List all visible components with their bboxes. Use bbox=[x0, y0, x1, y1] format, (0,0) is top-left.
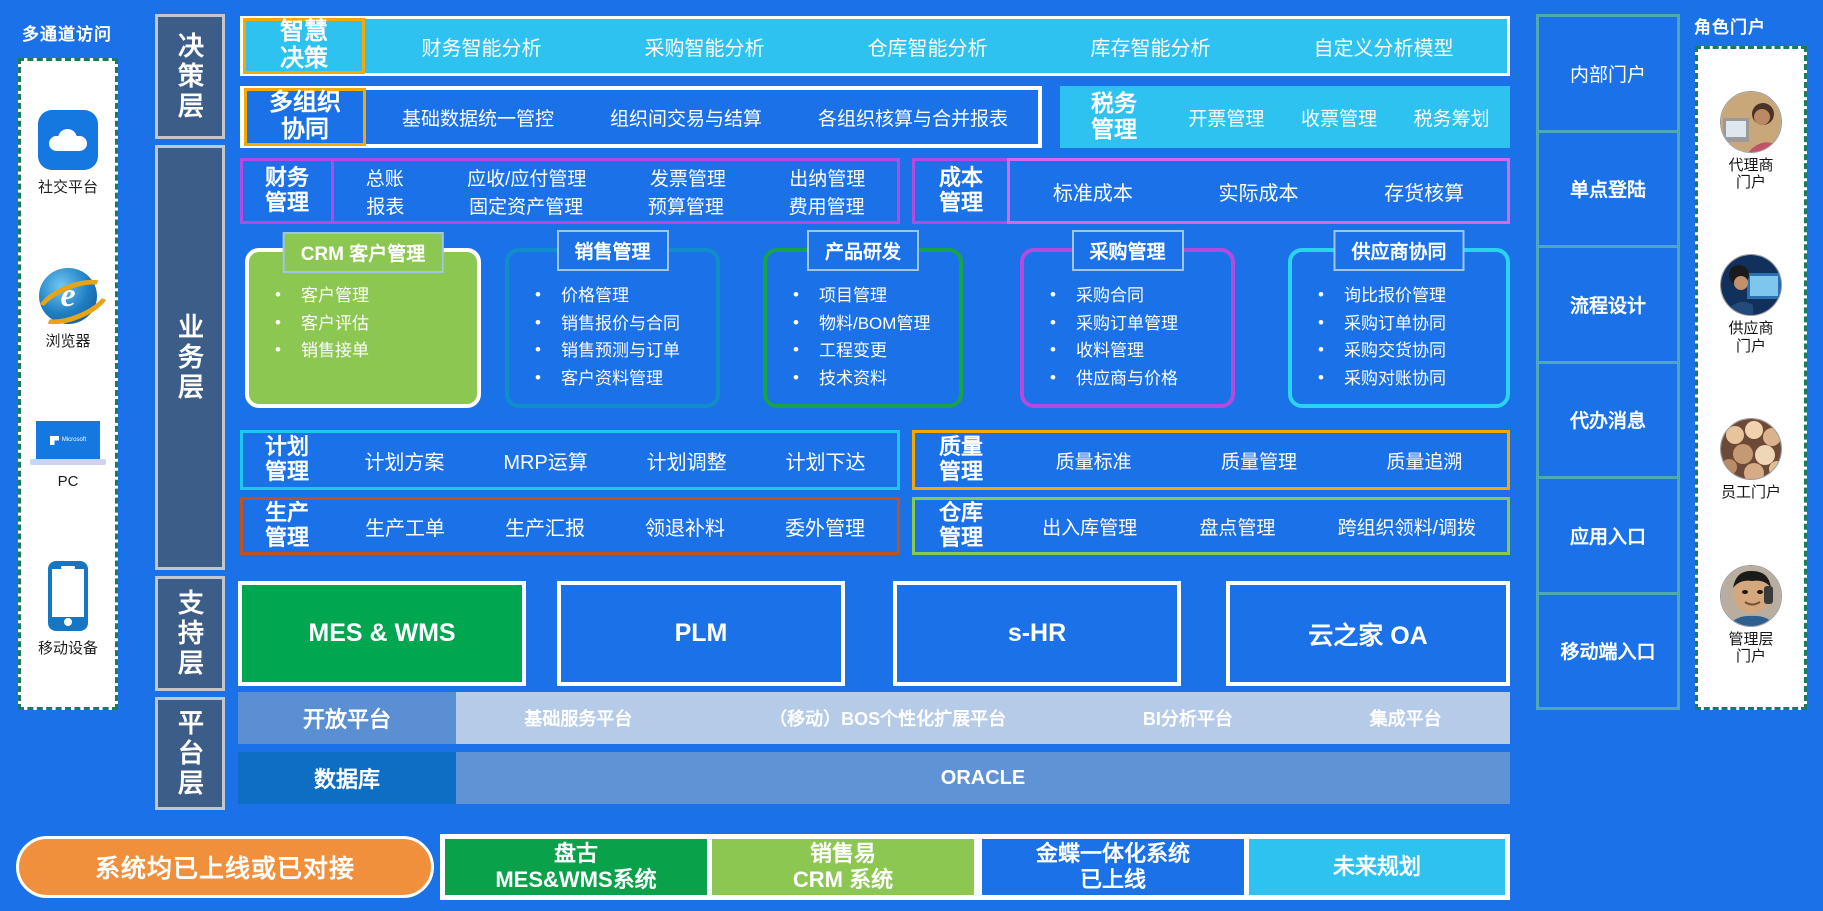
item[interactable]: 生产工单 bbox=[365, 512, 445, 541]
item[interactable]: 仓库智能分析 bbox=[868, 32, 988, 61]
production-module: 生产 管理 生产工单 生产汇报 领退补料 委外管理 bbox=[240, 497, 900, 555]
list-item[interactable]: 供应商与价格 bbox=[1050, 365, 1231, 393]
channel-label: 社交平台 bbox=[38, 176, 98, 197]
tag-line-1: 生产 bbox=[265, 501, 309, 526]
channel-item-pc[interactable]: Microsoft PC bbox=[30, 421, 106, 490]
architecture-diagram: 多通道访问 角色门户 社交平台 e 浏览器 Microsoft PC 移动设备 … bbox=[0, 0, 1823, 911]
item[interactable]: 质量标准 bbox=[1056, 447, 1132, 474]
support-oa[interactable]: 云之家 OA bbox=[1226, 581, 1510, 686]
tag-line-2: 管理 bbox=[265, 191, 309, 216]
tag-line-1: 质量 bbox=[939, 435, 983, 460]
item[interactable]: 委外管理 bbox=[785, 512, 865, 541]
item[interactable]: 自定义分析模型 bbox=[1314, 32, 1454, 61]
layer-platform: 平台层 bbox=[155, 697, 225, 810]
multiorg-items: 基础数据统一管控 组织间交易与结算 各组织核算与合并报表 bbox=[374, 90, 1036, 144]
card-items: 价格管理 销售报价与合同 销售预测与订单 客户资料管理 bbox=[535, 282, 716, 392]
item[interactable]: 组织间交易与结算 bbox=[610, 104, 762, 131]
multiorg-row: 多组织 协同 基础数据统一管控 组织间交易与结算 各组织核算与合并报表 bbox=[240, 86, 1042, 148]
item[interactable]: 实际成本 bbox=[1218, 177, 1298, 206]
role-portal-panel: 代理商 门户 供应商 门户 bbox=[1695, 46, 1807, 710]
list-item[interactable]: 价格管理 bbox=[535, 282, 716, 310]
card-supplier: 供应商协同 询比报价管理 采购订单协同 采购交货协同 采购对账协同 bbox=[1288, 248, 1510, 408]
cloud-icon bbox=[38, 110, 98, 170]
item[interactable]: 税务筹划 bbox=[1414, 104, 1490, 131]
card-rnd: 产品研发 项目管理 物料/BOM管理 工程变更 技术资料 bbox=[763, 248, 963, 408]
quality-module: 质量 管理 质量标准 质量管理 质量追溯 bbox=[912, 430, 1510, 490]
list-item[interactable]: 客户管理 bbox=[275, 282, 477, 310]
legend-line-1: 销售易 bbox=[810, 841, 876, 867]
list-item[interactable]: 采购交货协同 bbox=[1318, 337, 1506, 365]
legend-line-2: CRM 系统 bbox=[793, 867, 893, 893]
list-item[interactable]: 销售报价与合同 bbox=[535, 310, 716, 338]
card-title: 产品研发 bbox=[807, 230, 919, 271]
item[interactable]: 预算管理 bbox=[648, 192, 724, 219]
item[interactable]: 固定资产管理 bbox=[469, 192, 583, 219]
platform-open-row: 开放平台 基础服务平台 （移动）BOS个性化扩展平台 BI分析平台 集成平台 bbox=[238, 692, 1510, 744]
list-item[interactable]: 询比报价管理 bbox=[1318, 282, 1506, 310]
card-sales: 销售管理 价格管理 销售报价与合同 销售预测与订单 客户资料管理 bbox=[505, 248, 720, 408]
tag-line-2: 决策 bbox=[280, 46, 328, 73]
role-label-line2: 门户 bbox=[1728, 338, 1773, 355]
agent-avatar bbox=[1720, 91, 1782, 153]
tag-line-1: 成本 bbox=[939, 166, 983, 191]
item[interactable]: ORACLE bbox=[941, 767, 1025, 790]
list-item[interactable]: 物料/BOM管理 bbox=[793, 310, 959, 338]
plan-module: 计划 管理 计划方案 MRP运算 计划调整 计划下达 bbox=[240, 430, 900, 490]
role-label: 供应商 门户 bbox=[1728, 320, 1773, 355]
item[interactable]: 生产汇报 bbox=[505, 512, 585, 541]
item[interactable]: 基础数据统一管控 bbox=[402, 104, 554, 131]
tax-row: 税务 管理 开票管理 收票管理 税务筹划 bbox=[1060, 86, 1510, 148]
finance-module: 财务 管理 总账 应收/应付管理 发票管理 出纳管理 报表 固定资产管理 预算管… bbox=[240, 158, 900, 224]
role-label-line2: 门户 bbox=[1728, 174, 1773, 191]
item[interactable]: 采购智能分析 bbox=[645, 32, 765, 61]
channel-item-browser[interactable]: e 浏览器 bbox=[39, 268, 97, 351]
item[interactable]: 财务智能分析 bbox=[422, 32, 542, 61]
legend-future-plan[interactable]: 未来规划 bbox=[1249, 839, 1505, 895]
cost-module: 成本 管理 标准成本 实际成本 存货核算 bbox=[912, 158, 1510, 224]
left-caption: 多通道访问 bbox=[22, 20, 112, 45]
layer-support: 支持层 bbox=[155, 576, 225, 691]
cost-items: 标准成本 实际成本 存货核算 bbox=[1010, 161, 1507, 221]
list-item[interactable]: 采购合同 bbox=[1050, 282, 1231, 310]
card-items: 客户管理 客户评估 销售接单 bbox=[275, 282, 477, 365]
list-item[interactable]: 客户资料管理 bbox=[535, 365, 716, 393]
portal-menu-item-internal[interactable]: 内部门户 bbox=[1539, 17, 1677, 133]
item[interactable]: 计划下达 bbox=[786, 446, 866, 475]
legend-status-pill[interactable]: 系统均已上线或已对接 bbox=[16, 836, 434, 898]
role-item-management[interactable]: 管理层 门户 bbox=[1720, 565, 1782, 666]
portal-menu-item-app-entry[interactable]: 应用入口 bbox=[1539, 479, 1677, 595]
smart-decision-items: 财务智能分析 采购智能分析 仓库智能分析 库存智能分析 自定义分析模型 bbox=[370, 19, 1505, 73]
portal-menu: 内部门户 单点登陆 流程设计 代办消息 应用入口 移动端入口 bbox=[1536, 14, 1680, 710]
item[interactable]: MRP运算 bbox=[503, 446, 587, 475]
production-tag: 生产 管理 bbox=[243, 500, 331, 552]
supplier-avatar bbox=[1720, 254, 1782, 316]
item[interactable]: 开票管理 bbox=[1188, 104, 1264, 131]
item[interactable]: 各组织核算与合并报表 bbox=[818, 104, 1008, 131]
employee-avatar bbox=[1720, 418, 1782, 480]
channel-label: 浏览器 bbox=[45, 330, 90, 351]
support-mes-wms[interactable]: MES & WMS bbox=[238, 581, 526, 686]
list-item[interactable]: 客户评估 bbox=[275, 310, 477, 338]
tag-line-2: 管理 bbox=[939, 526, 983, 551]
item[interactable]: BI分析平台 bbox=[1143, 705, 1233, 731]
tax-items: 开票管理 收票管理 税务筹划 bbox=[1170, 86, 1508, 148]
portal-menu-item-process-design[interactable]: 流程设计 bbox=[1539, 248, 1677, 364]
list-item[interactable]: 收料管理 bbox=[1050, 337, 1231, 365]
quality-tag: 质量 管理 bbox=[915, 433, 1007, 487]
role-label-line1: 代理商 bbox=[1728, 157, 1773, 174]
portal-menu-item-mobile-entry[interactable]: 移动端入口 bbox=[1539, 595, 1677, 708]
legend-line-1: 未来规划 bbox=[1333, 854, 1421, 880]
warehouse-tag: 仓库 管理 bbox=[915, 500, 1007, 552]
portal-menu-item-sso[interactable]: 单点登陆 bbox=[1539, 133, 1677, 249]
legend-group: 盘古 MES&WMS系统 销售易 CRM 系统 金蝶一体化系统 已上线 未来规划 bbox=[440, 834, 1510, 900]
item[interactable]: 质量管理 bbox=[1221, 447, 1297, 474]
legend-line-1: 金蝶一体化系统 bbox=[1036, 841, 1190, 867]
item[interactable]: 总账 bbox=[366, 164, 404, 191]
database-tag: 数据库 bbox=[238, 752, 456, 804]
list-item[interactable]: 采购订单协同 bbox=[1318, 310, 1506, 338]
tag-line-2: 管理 bbox=[265, 460, 309, 485]
card-items: 采购合同 采购订单管理 收料管理 供应商与价格 bbox=[1050, 282, 1231, 392]
mobile-phone-icon bbox=[48, 561, 88, 631]
list-item[interactable]: 销售预测与订单 bbox=[535, 337, 716, 365]
tag-line-2: 管理 bbox=[1091, 117, 1137, 143]
channel-item-mobile[interactable]: 移动设备 bbox=[38, 561, 98, 658]
right-caption: 角色门户 bbox=[1694, 13, 1766, 38]
card-items: 询比报价管理 采购订单协同 采购交货协同 采购对账协同 bbox=[1318, 282, 1506, 392]
production-items: 生产工单 生产汇报 领退补料 委外管理 bbox=[335, 500, 895, 552]
smart-decision-row: 智慧 决策 财务智能分析 采购智能分析 仓库智能分析 库存智能分析 自定义分析模… bbox=[240, 16, 1510, 76]
role-label-line1: 员工门户 bbox=[1721, 484, 1781, 501]
item[interactable]: 出入库管理 bbox=[1042, 513, 1137, 540]
item[interactable]: 应收/应付管理 bbox=[467, 164, 586, 191]
list-item[interactable]: 工程变更 bbox=[793, 337, 959, 365]
tag-line-2: 管理 bbox=[939, 460, 983, 485]
tag-line-2: 协同 bbox=[281, 117, 329, 144]
cost-items-box: 标准成本 实际成本 存货核算 bbox=[1007, 158, 1510, 224]
open-platform-items: 基础服务平台 （移动）BOS个性化扩展平台 BI分析平台 集成平台 bbox=[456, 692, 1510, 744]
legend-line-2: 已上线 bbox=[1080, 867, 1146, 893]
portal-menu-item-todo-message[interactable]: 代办消息 bbox=[1539, 364, 1677, 480]
legend-line-1: 盘古 bbox=[554, 841, 598, 867]
multiorg-tag: 多组织 协同 bbox=[244, 88, 366, 146]
role-item-agent[interactable]: 代理商 门户 bbox=[1720, 91, 1782, 192]
item[interactable]: 盘点管理 bbox=[1199, 513, 1275, 540]
card-crm: CRM 客户管理 客户管理 客户评估 销售接单 bbox=[245, 248, 481, 408]
tag-line-1: 智慧 bbox=[280, 19, 328, 46]
item[interactable]: 基础服务平台 bbox=[524, 705, 632, 731]
item[interactable]: 存货核算 bbox=[1384, 177, 1464, 206]
item[interactable]: 集成平台 bbox=[1370, 705, 1442, 731]
internet-explorer-icon: e bbox=[39, 268, 97, 324]
role-item-supplier[interactable]: 供应商 门户 bbox=[1720, 254, 1782, 355]
item[interactable]: 跨组织领料/调拨 bbox=[1338, 513, 1476, 540]
tag-line-1: 税务 bbox=[1091, 91, 1137, 117]
finance-row-2: 报表 固定资产管理 预算管理 费用管理 bbox=[334, 191, 897, 219]
cost-tag: 成本 管理 bbox=[915, 161, 1007, 221]
role-label-line1: 供应商 bbox=[1728, 320, 1773, 337]
role-label-line1: 管理层 bbox=[1728, 631, 1773, 648]
list-item[interactable]: 销售接单 bbox=[275, 337, 477, 365]
legend-line-2: MES&WMS系统 bbox=[495, 867, 656, 893]
list-item[interactable]: 采购订单管理 bbox=[1050, 310, 1231, 338]
finance-tag: 财务 管理 bbox=[243, 161, 331, 221]
quality-items: 质量标准 质量管理 质量追溯 bbox=[1011, 433, 1507, 487]
warehouse-module: 仓库 管理 出入库管理 盘点管理 跨组织领料/调拨 bbox=[912, 497, 1510, 555]
support-plm[interactable]: PLM bbox=[557, 581, 845, 686]
channel-item-social[interactable]: 社交平台 bbox=[38, 110, 98, 197]
list-item[interactable]: 项目管理 bbox=[793, 282, 959, 310]
card-items: 项目管理 物料/BOM管理 工程变更 技术资料 bbox=[793, 282, 959, 392]
management-avatar bbox=[1720, 565, 1782, 627]
item[interactable]: （移动）BOS个性化扩展平台 bbox=[769, 705, 1006, 731]
tag-line-1: 计划 bbox=[265, 435, 309, 460]
item[interactable]: 计划方案 bbox=[364, 446, 444, 475]
list-item[interactable]: 技术资料 bbox=[793, 365, 959, 393]
tag-line-2: 管理 bbox=[939, 191, 983, 216]
tag-line-1: 财务 bbox=[265, 166, 309, 191]
item[interactable]: 费用管理 bbox=[789, 192, 865, 219]
item[interactable]: 出纳管理 bbox=[789, 164, 865, 191]
smart-decision-tag: 智慧 决策 bbox=[243, 18, 365, 74]
list-item[interactable]: 采购对账协同 bbox=[1318, 365, 1506, 393]
item[interactable]: 质量追溯 bbox=[1386, 447, 1462, 474]
card-title: CRM 客户管理 bbox=[283, 232, 444, 273]
tag-line-2: 管理 bbox=[265, 526, 309, 551]
item[interactable]: 领退补料 bbox=[645, 512, 725, 541]
legend-xiaoshouyi-crm[interactable]: 销售易 CRM 系统 bbox=[712, 839, 974, 895]
item[interactable]: 库存智能分析 bbox=[1091, 32, 1211, 61]
role-label: 代理商 门户 bbox=[1728, 157, 1773, 192]
card-title: 采购管理 bbox=[1071, 230, 1183, 271]
layer-business: 业务层 bbox=[155, 145, 225, 570]
legend-pangu-mes-wms[interactable]: 盘古 MES&WMS系统 bbox=[445, 839, 707, 895]
database-items: ORACLE bbox=[456, 752, 1510, 804]
role-label: 管理层 门户 bbox=[1728, 631, 1773, 666]
item[interactable]: 收票管理 bbox=[1301, 104, 1377, 131]
layer-decision: 决策层 bbox=[155, 14, 225, 139]
item[interactable]: 报表 bbox=[366, 192, 404, 219]
finance-row-1: 总账 应收/应付管理 发票管理 出纳管理 bbox=[334, 163, 897, 191]
tag-line-1: 多组织 bbox=[269, 90, 341, 117]
warehouse-items: 出入库管理 盘点管理 跨组织领料/调拨 bbox=[1011, 500, 1507, 552]
support-shr[interactable]: s-HR bbox=[893, 581, 1181, 686]
card-title: 供应商协同 bbox=[1333, 230, 1464, 271]
role-label-line2: 门户 bbox=[1728, 648, 1773, 665]
tax-tag: 税务 管理 bbox=[1060, 86, 1168, 148]
platform-database-row: 数据库 ORACLE bbox=[238, 752, 1510, 804]
card-title: 销售管理 bbox=[556, 230, 668, 271]
item[interactable]: 计划调整 bbox=[647, 446, 727, 475]
channel-label: 移动设备 bbox=[38, 637, 98, 658]
card-purchase: 采购管理 采购合同 采购订单管理 收料管理 供应商与价格 bbox=[1020, 248, 1235, 408]
channel-panel: 社交平台 e 浏览器 Microsoft PC 移动设备 bbox=[18, 58, 118, 710]
channel-label: PC bbox=[58, 473, 79, 490]
laptop-icon: Microsoft bbox=[30, 421, 106, 467]
finance-items-box: 总账 应收/应付管理 发票管理 出纳管理 报表 固定资产管理 预算管理 费用管理 bbox=[331, 158, 900, 224]
role-item-employee[interactable]: 员工门户 bbox=[1720, 418, 1782, 501]
legend-kingdee-integrated[interactable]: 金蝶一体化系统 已上线 bbox=[982, 839, 1244, 895]
open-platform-tag: 开放平台 bbox=[238, 692, 456, 744]
plan-tag: 计划 管理 bbox=[243, 433, 331, 487]
item[interactable]: 标准成本 bbox=[1053, 177, 1133, 206]
plan-items: 计划方案 MRP运算 计划调整 计划下达 bbox=[335, 433, 895, 487]
role-label: 员工门户 bbox=[1721, 484, 1781, 501]
tag-line-1: 仓库 bbox=[939, 501, 983, 526]
item[interactable]: 发票管理 bbox=[650, 164, 726, 191]
